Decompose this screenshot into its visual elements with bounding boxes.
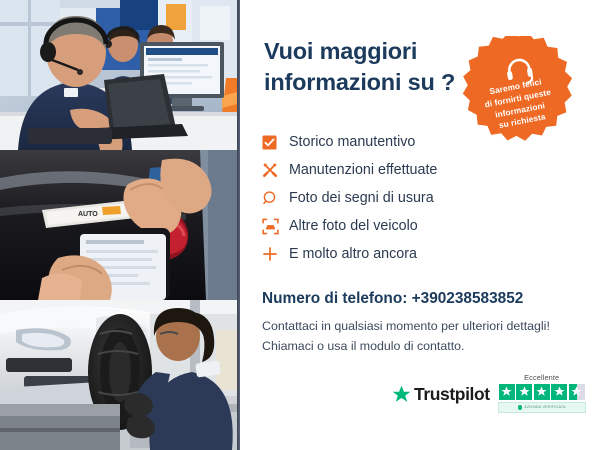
headline-line-2: informazioni su ? [264, 67, 479, 98]
checkbox-checked-icon [262, 131, 288, 153]
feature-item-foto-segni-usura: Foto dei segni di usura [262, 184, 582, 212]
contact-instructions: Contattaci in qualsiasi momento per ulte… [262, 316, 582, 356]
feature-label: Storico manutentivo [288, 135, 415, 149]
contact-line-1: Contattaci in qualsiasi momento per ulte… [262, 316, 582, 336]
feature-label: E molto altro ancora [288, 247, 417, 261]
feature-item-molto-altro: E molto altro ancora [262, 240, 582, 268]
verified-check-icon [518, 405, 523, 410]
feature-item-storico-manutentivo: Storico manutentivo [262, 128, 582, 156]
rating-label: Eccellente [524, 373, 559, 382]
mechanic-tyre-photo [0, 300, 237, 450]
star-icon [551, 384, 567, 400]
feature-item-altre-foto-veicolo: Altre foto del veicolo [262, 212, 582, 240]
trustpilot-logo: Trustpilot [392, 384, 490, 405]
trustpilot-widget[interactable]: Trustpilot Eccellente [392, 370, 592, 416]
plus-icon [262, 243, 288, 265]
star-half-icon [569, 384, 585, 400]
call-center-agents-photo [0, 0, 237, 150]
feature-label: Foto dei segni di usura [288, 191, 434, 205]
star-icon [499, 384, 515, 400]
contact-line-2: Chiamaci o usa il modulo di contatto. [262, 336, 582, 356]
trustpilot-rating: Eccellente [499, 373, 585, 413]
star-icon [516, 384, 532, 400]
feature-list: Storico manutentivo Manutenzi [262, 128, 582, 268]
content-panel: Vuoi maggiori informazioni su ? Saremo [240, 0, 600, 450]
magnifier-icon [262, 187, 288, 209]
phone-number[interactable]: +390238583852 [412, 290, 524, 307]
page-title: Vuoi maggiori informazioni su ? [264, 36, 479, 99]
phone-number-line: Numero di telefono: +390238583852 [262, 290, 523, 308]
star-rating [499, 384, 585, 400]
feature-label: Manutenzioni effettuate [288, 163, 437, 177]
car-scan-frame-icon [262, 215, 288, 237]
photo-column: AUTO [0, 0, 237, 450]
star-icon [534, 384, 550, 400]
phone-label: Numero di telefono: [262, 290, 412, 307]
vehicle-inspection-photo: AUTO [0, 150, 237, 300]
feature-item-manutenzioni-effettuate: Manutenzioni effettuate [262, 156, 582, 184]
verified-label: AZIENDA VERIFICATA [524, 405, 566, 409]
svg-text:AUTO: AUTO [78, 211, 98, 218]
promo-card: AUTO [0, 0, 600, 450]
verified-business-badge: AZIENDA VERIFICATA [498, 402, 586, 413]
trustpilot-wordmark: Trustpilot [414, 384, 490, 405]
feature-label: Altre foto del veicolo [288, 219, 418, 233]
tools-wrench-cross-icon [262, 159, 288, 181]
headline-line-1: Vuoi maggiori [264, 36, 479, 67]
star-icon [392, 385, 411, 404]
